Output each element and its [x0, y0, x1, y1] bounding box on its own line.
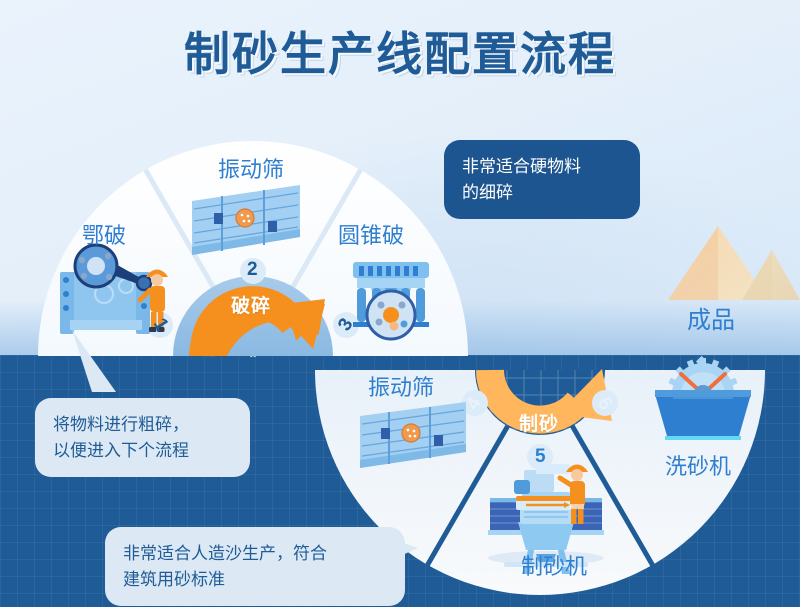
stage-two-arc-label: 制砂: [519, 409, 559, 436]
stage-one-arc-label: 破碎: [231, 291, 271, 318]
sand-washer-icon: [655, 356, 751, 440]
stage-one-label-1: 鄂破: [82, 218, 126, 250]
stage-one-number-2: 2: [247, 259, 258, 281]
stage-two-label-5: 制砂机: [521, 549, 587, 581]
sand-pile-icon: [668, 226, 800, 300]
cone-crusher-note-line-1: 非常适合硬物料: [462, 154, 622, 180]
stage-one-label-2: 振动筛: [218, 152, 284, 184]
product-label: 成品: [687, 300, 735, 335]
cone-crusher-note: 非常适合硬物料 的细碎: [444, 140, 640, 219]
stage-two-number-5: 5: [535, 446, 546, 468]
sand-machine-note: 非常适合人造沙生产，符合 建筑用砂标准: [105, 527, 405, 606]
jaw-crusher-note: 将物料进行粗碎， 以便进入下个流程: [35, 398, 250, 477]
diagram-canvas: [0, 0, 800, 607]
stage-one-label-3: 圆锥破: [338, 218, 404, 250]
cone-crusher-note-line-2: 的细碎: [462, 180, 622, 206]
stage-two-label-6: 洗砂机: [665, 449, 731, 481]
sand-machine-note-line-2: 建筑用砂标准: [123, 567, 387, 593]
jaw-crusher-note-line-1: 将物料进行粗碎，: [53, 412, 232, 438]
infographic-stage: 制砂生产线配置流程: [0, 0, 800, 607]
stage-two-label-4: 振动筛: [368, 370, 434, 402]
sand-machine-note-line-1: 非常适合人造沙生产，符合: [123, 541, 387, 567]
jaw-crusher-note-line-2: 以便进入下个流程: [53, 438, 232, 464]
